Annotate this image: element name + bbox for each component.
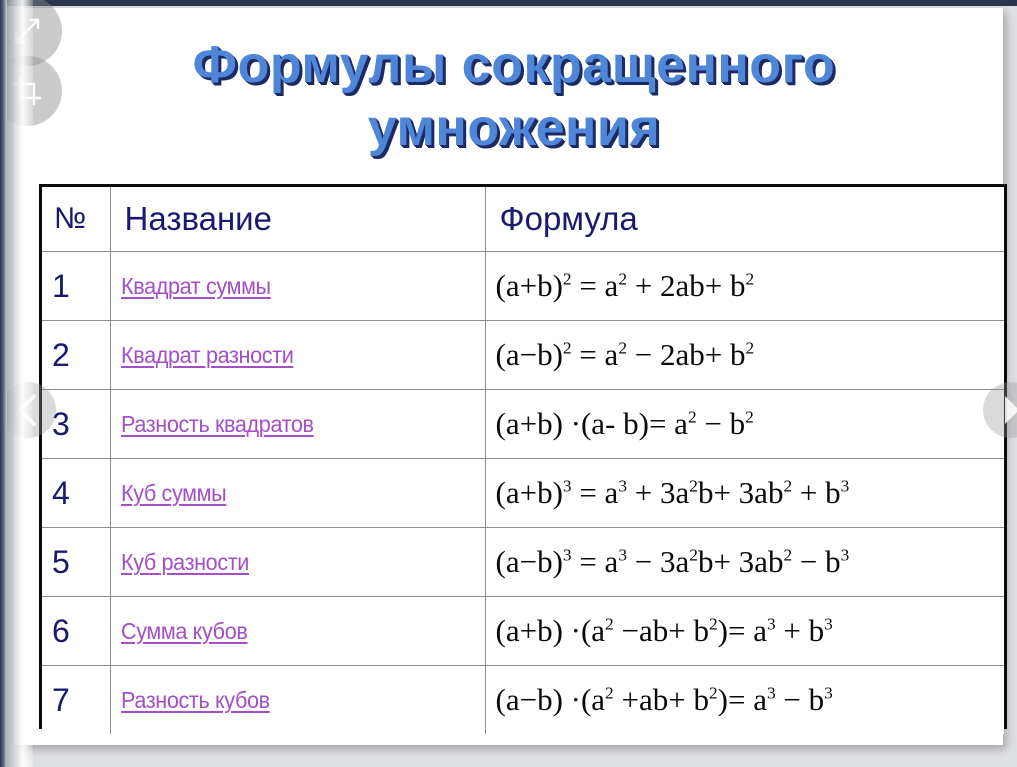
column-header-formula: Формула	[485, 187, 1004, 252]
row-name-cell: Куб суммы	[110, 459, 485, 528]
table-row: 2 Квадрат разности (a−b)2 = a2 − 2ab+ b2	[42, 321, 1004, 390]
table-row: 7 Разность кубов (a−b) ·(a2 +ab+ b2)= a3…	[42, 666, 1004, 735]
formula-link[interactable]: Куб суммы	[121, 480, 226, 507]
row-name-cell: Квадрат суммы	[110, 252, 485, 321]
formula-expression: (a+b) ·(a- b)= a2 − b2	[496, 406, 754, 441]
row-number: 1	[42, 252, 110, 321]
table-row: 5 Куб разности (a−b)3 = a3 − 3a2b+ 3ab2 …	[42, 528, 1004, 597]
formula-link[interactable]: Квадрат суммы	[121, 273, 271, 300]
row-name-cell: Разность квадратов	[110, 390, 485, 459]
column-header-number: №	[42, 187, 110, 252]
row-number: 7	[42, 666, 110, 735]
formula-expression: (a+b)3 = a3 + 3a2b+ 3ab2 + b3	[496, 475, 850, 510]
row-name-cell: Сумма кубов	[110, 597, 485, 666]
row-name-cell: Куб разности	[110, 528, 485, 597]
row-formula-cell: (a+b)2 = a2 + 2ab+ b2	[485, 252, 1004, 321]
row-formula-cell: (a+b)3 = a3 + 3a2b+ 3ab2 + b3	[485, 459, 1004, 528]
formula-expression: (a+b)2 = a2 + 2ab+ b2	[496, 268, 755, 303]
table-row: 6 Сумма кубов (a+b) ·(a2 −ab+ b2)= a3 + …	[42, 597, 1004, 666]
crop-icon	[12, 76, 42, 106]
expand-arrows-icon	[12, 16, 42, 46]
formula-link[interactable]: Разность квадратов	[121, 411, 314, 438]
formulas-table: № Название Формула 1 Квадрат суммы (a+b)…	[39, 184, 1007, 729]
title-line-1: Формулы сокращенного	[193, 34, 836, 97]
table-row: 4 Куб суммы (a+b)3 = a3 + 3a2b+ 3ab2 + b…	[42, 459, 1004, 528]
row-number: 4	[42, 459, 110, 528]
formula-link[interactable]: Куб разности	[121, 549, 249, 576]
previous-slide-button[interactable]	[0, 382, 56, 438]
row-formula-cell: (a−b) ·(a2 +ab+ b2)= a3 − b3	[485, 666, 1004, 735]
slide-canvas: Формулы сокращенного умножения № Названи…	[14, 8, 1003, 745]
formula-link[interactable]: Сумма кубов	[121, 618, 247, 645]
row-number: 6	[42, 597, 110, 666]
title-line-2: умножения	[368, 97, 661, 160]
left-edge-gutter	[0, 0, 7, 767]
column-header-name: Название	[110, 187, 485, 252]
table-row: 3 Разность квадратов (a+b) ·(a- b)= a2 −…	[42, 390, 1004, 459]
formula-expression: (a−b)3 = a3 − 3a2b+ 3ab2 − b3	[496, 544, 850, 579]
formula-link[interactable]: Разность кубов	[121, 687, 270, 714]
row-number: 2	[42, 321, 110, 390]
formula-expression: (a−b)2 = a2 − 2ab+ b2	[496, 337, 755, 372]
row-formula-cell: (a+b) ·(a2 −ab+ b2)= a3 + b3	[485, 597, 1004, 666]
row-formula-cell: (a+b) ·(a- b)= a2 − b2	[485, 390, 1004, 459]
page-title: Формулы сокращенного умножения	[39, 22, 989, 172]
row-number: 5	[42, 528, 110, 597]
formula-expression: (a−b) ·(a2 +ab+ b2)= a3 − b3	[496, 682, 833, 717]
formula-expression: (a+b) ·(a2 −ab+ b2)= a3 + b3	[496, 613, 833, 648]
chevron-right-icon	[996, 392, 1017, 428]
row-name-cell: Квадрат разности	[110, 321, 485, 390]
row-formula-cell: (a−b)3 = a3 − 3a2b+ 3ab2 − b3	[485, 528, 1004, 597]
row-formula-cell: (a−b)2 = a2 − 2ab+ b2	[485, 321, 1004, 390]
chevron-left-icon	[13, 392, 43, 428]
row-name-cell: Разность кубов	[110, 666, 485, 735]
table-header-row: № Название Формула	[42, 187, 1004, 252]
formula-link[interactable]: Квадрат разности	[121, 342, 293, 369]
table-row: 1 Квадрат суммы (a+b)2 = a2 + 2ab+ b2	[42, 252, 1004, 321]
